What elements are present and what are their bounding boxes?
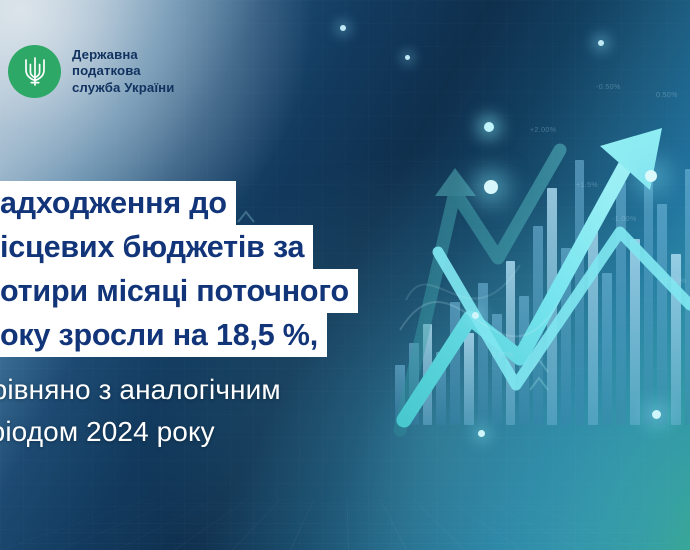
glow-dot (484, 122, 494, 132)
chart-bar (436, 352, 446, 425)
perspective-grid-floor (0, 499, 690, 550)
percent-annotation: +2.00% (530, 127, 556, 134)
logo-line-3: служба України (72, 80, 174, 97)
glow-dot (652, 410, 661, 419)
logo-line-1: Державна (72, 47, 174, 64)
logo-line-2: податкова (72, 63, 174, 80)
headline-line-1: адходження до (0, 181, 236, 225)
subheadline-line-1: орівняно з аналогічним (0, 369, 281, 411)
chart-bar (685, 169, 690, 425)
glow-dot (405, 55, 410, 60)
glow-dot (340, 25, 346, 31)
chart-bar (409, 343, 419, 425)
chart-bar (602, 273, 612, 425)
wave-curve-2 (406, 265, 520, 300)
chart-bar (395, 365, 405, 425)
wave-curve (400, 300, 560, 336)
subheadline-block: орівняно з аналогічним еріодом 2024 року (0, 369, 281, 453)
chart-bar (630, 239, 640, 425)
chart-bar (616, 182, 626, 425)
chart-bar (519, 296, 529, 425)
glow-dot (478, 430, 485, 437)
headline-block: адходження до ісцевих бюджетів за отири … (0, 181, 358, 357)
percent-annotation: -0.50% (596, 84, 621, 91)
headline-line-3: отири місяці поточного (0, 269, 358, 313)
chart-bar (450, 302, 460, 425)
percent-annotation: 0.50% (656, 92, 678, 99)
subheadline-line-2: еріодом 2024 року (0, 411, 281, 453)
chart-bar (492, 314, 502, 425)
chart-bar (547, 188, 557, 425)
glow-dot (645, 170, 657, 182)
v-line-icon (438, 232, 690, 385)
percent-annotation: +1.00% (660, 278, 686, 285)
chart-bar (588, 217, 598, 425)
logo-circle (8, 45, 61, 98)
glow-dot (598, 40, 604, 46)
headline-line-4: оку зросли на 18,5 %, (0, 313, 327, 357)
percent-annotation: -0.50% (489, 352, 514, 359)
rising-arrow-icon (404, 128, 662, 420)
chart-bar (478, 283, 488, 425)
chart-bar (575, 160, 585, 425)
chart-bar (644, 147, 654, 425)
glow-dot (472, 312, 479, 319)
ukraine-trident-icon (22, 55, 48, 88)
poster-canvas: -0.50%0.50%+2.00%+1.5%-1.00%-0.50%+1.00%… (0, 0, 690, 550)
organization-logo: Державна податкова служба України (8, 45, 174, 98)
chart-bar (423, 324, 433, 425)
chart-bar (671, 254, 681, 425)
glow-dot (484, 180, 498, 194)
percent-annotation: +1.5% (576, 182, 598, 189)
background-bar-chart (395, 125, 690, 425)
organization-name: Державна податкова служба України (72, 47, 174, 97)
chart-bar (506, 261, 516, 425)
back-arrow-icon (400, 150, 560, 430)
percent-annotation: -1.00% (612, 216, 637, 223)
chart-bar (533, 226, 543, 425)
chart-bar (464, 333, 474, 425)
chart-bar (561, 248, 571, 425)
headline-line-2: ісцевих бюджетів за (0, 225, 313, 269)
chart-bar (657, 204, 667, 425)
